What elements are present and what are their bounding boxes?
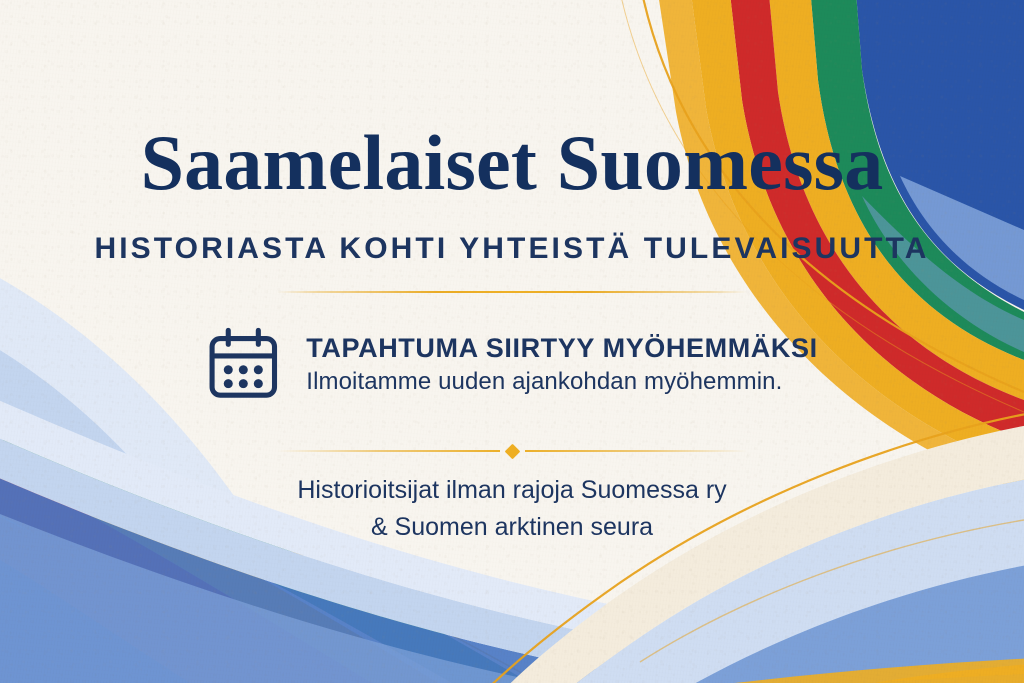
divider-line-left — [277, 450, 500, 452]
organizers: Historioitsijat ilman rajoja Suomessa ry… — [0, 472, 1024, 545]
page-subtitle: HISTORIASTA KOHTI YHTEISTÄ TULEVAISUUTTA — [0, 232, 1024, 265]
calendar-icon — [206, 327, 280, 401]
gold-rule-divider — [277, 291, 747, 293]
postponement-notice: TAPAHTUMA SIIRTYY MYÖHEMMÄKSI Ilmoitamme… — [206, 327, 817, 401]
notice-detail: Ilmoitamme uuden ajankohdan myöhemmin. — [306, 368, 817, 396]
notice-headline: TAPAHTUMA SIIRTYY MYÖHEMMÄKSI — [306, 333, 817, 364]
notice-text-block: TAPAHTUMA SIIRTYY MYÖHEMMÄKSI Ilmoitamme… — [306, 333, 817, 396]
event-poster: Saamelaiset Suomessa HISTORIASTA KOHTI Y… — [0, 0, 1024, 683]
page-title: Saamelaiset Suomessa — [0, 124, 1024, 202]
divider-line-right — [525, 450, 748, 452]
diamond-icon — [504, 443, 520, 459]
organizer-line-1: Historioitsijat ilman rajoja Suomessa ry — [0, 472, 1024, 509]
poster-content: Saamelaiset Suomessa HISTORIASTA KOHTI Y… — [0, 0, 1024, 683]
diamond-divider — [277, 440, 747, 462]
organizer-line-2: & Suomen arktinen seura — [0, 509, 1024, 546]
